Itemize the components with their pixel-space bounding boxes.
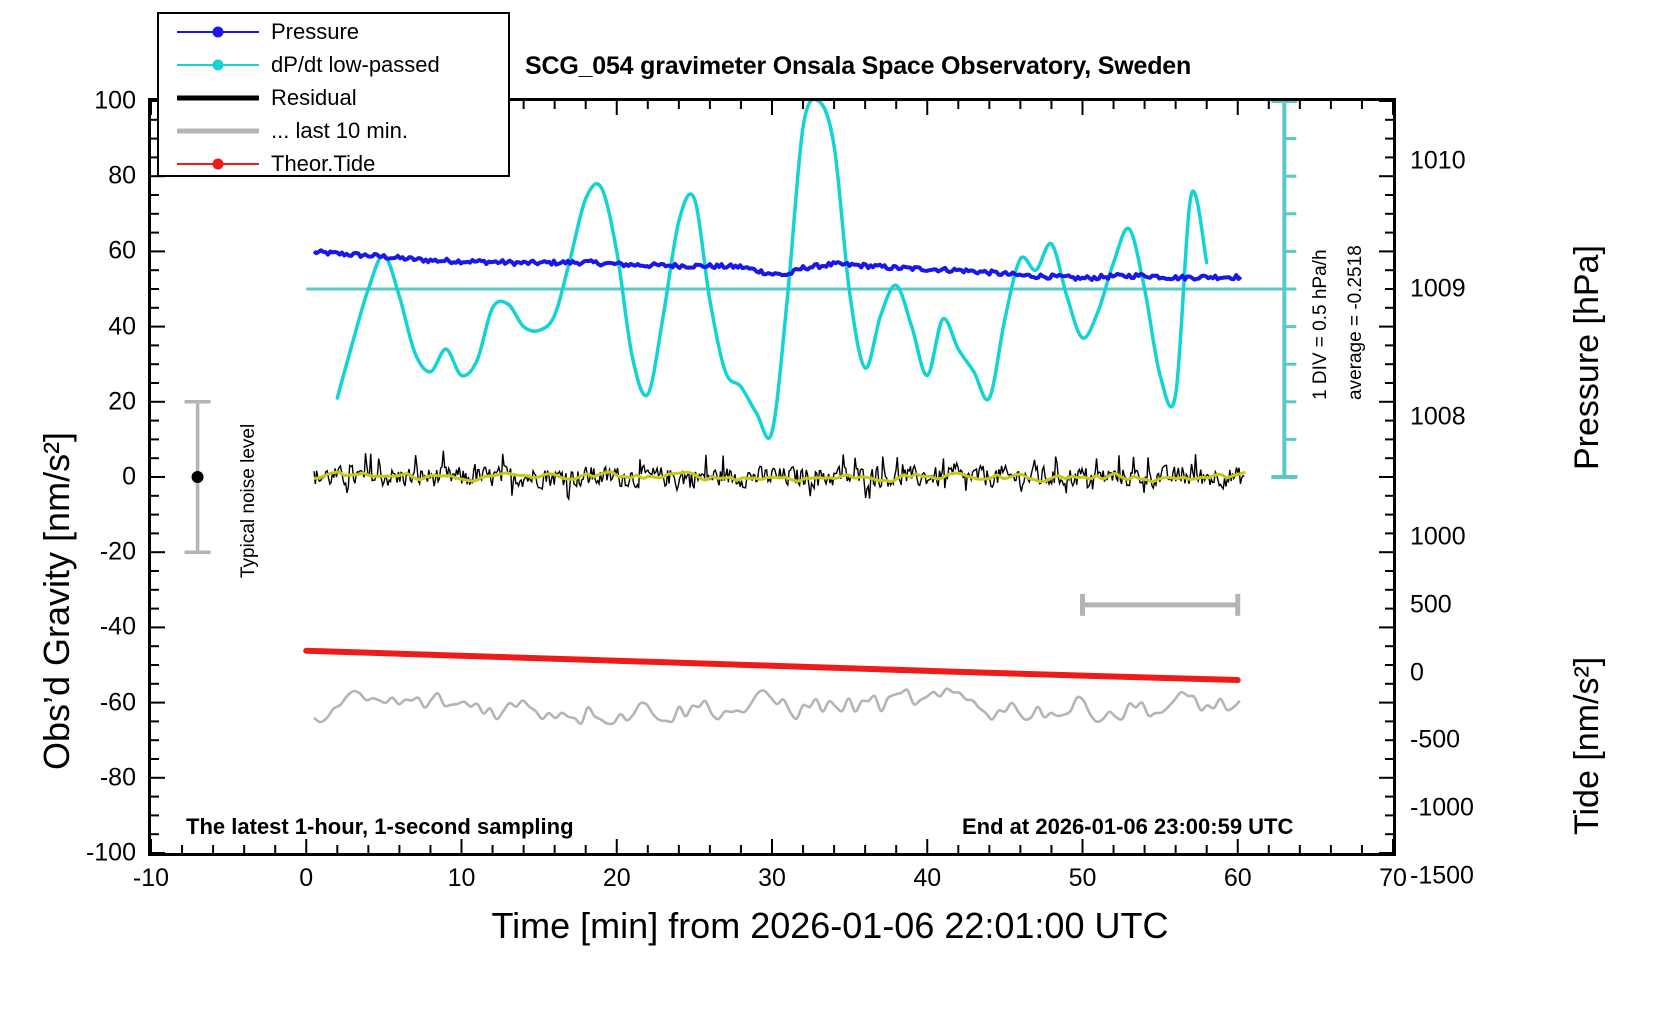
x-tick-label: 50	[1069, 864, 1097, 893]
noise-level-label: Typical noise level	[238, 424, 260, 578]
pressure-tick-label: 1009	[1410, 275, 1466, 304]
tide-tick-label: 0	[1410, 658, 1424, 687]
chart-legend: Pressure dP/dt low-passed Residual ... l…	[157, 12, 510, 177]
pressure-tick-label: 1010	[1410, 147, 1466, 176]
legend-swatch-residual	[177, 82, 259, 113]
plot-canvas	[151, 101, 1393, 853]
chart-title: SCG_054 gravimeter Onsala Space Observat…	[525, 52, 1191, 81]
plot-area	[148, 98, 1396, 856]
tide-tick-label: -500	[1410, 726, 1460, 755]
tide-tick-label: -1000	[1410, 793, 1474, 822]
legend-label-dpdt: dP/dt low-passed	[271, 52, 440, 78]
x-tick-label: 0	[299, 864, 313, 893]
legend-item-last10: ... last 10 min.	[159, 115, 508, 146]
x-tick-label: 20	[603, 864, 631, 893]
pressure-tick-label: 1008	[1410, 402, 1466, 431]
div-scale-label: 1 DIV = 0.5 hPa/h	[1310, 249, 1332, 400]
average-label: average = -0.2518	[1345, 245, 1367, 400]
footer-left-note: The latest 1-hour, 1-second sampling	[186, 814, 574, 840]
legend-item-pressure: Pressure	[159, 16, 508, 47]
legend-label-residual: Residual	[271, 85, 357, 111]
x-tick-label: 30	[758, 864, 786, 893]
y-tick-label: 100	[0, 87, 136, 116]
last10min-line	[314, 689, 1240, 724]
legend-swatch-dpdt	[177, 49, 259, 80]
legend-label-pressure: Pressure	[271, 19, 359, 45]
tide-tick-label: -1500	[1410, 861, 1474, 890]
legend-label-last10: ... last 10 min.	[271, 118, 408, 144]
legend-swatch-pressure	[177, 16, 259, 47]
y-tick-label: 80	[0, 162, 136, 191]
residual-line	[314, 451, 1244, 499]
tide-axis-title: Tide [nm/s²]	[1568, 657, 1607, 835]
x-tick-label: 10	[448, 864, 476, 893]
x-axis-title: Time [min] from 2026-01-06 22:01:00 UTC	[0, 905, 1660, 947]
legend-label-tide: Theor.Tide	[271, 151, 375, 177]
pressure-axis-title: Pressure [hPa]	[1568, 245, 1607, 470]
x-tick-label: 40	[913, 864, 941, 893]
pressure-line	[314, 250, 1241, 280]
legend-item-dpdt: dP/dt low-passed	[159, 49, 508, 80]
y-tick-label: -100	[0, 839, 136, 868]
y-tick-label: 60	[0, 237, 136, 266]
chart-page: SCG_054 gravimeter Onsala Space Observat…	[0, 0, 1660, 1020]
legend-item-residual: Residual	[159, 82, 508, 113]
noise-center-dot	[192, 471, 204, 483]
y-tick-label: 20	[0, 387, 136, 416]
y-tick-label: 40	[0, 312, 136, 341]
legend-item-tide: Theor.Tide	[159, 148, 508, 179]
legend-swatch-last10	[177, 115, 259, 146]
tide-tick-label: 1000	[1410, 523, 1466, 552]
x-tick-label: 60	[1224, 864, 1252, 893]
y-axis-title: Obs’d Gravity [nm/s²]	[36, 432, 78, 770]
x-tick-label: 70	[1379, 864, 1407, 893]
tide-tick-label: 500	[1410, 590, 1452, 619]
legend-swatch-tide	[177, 148, 259, 179]
x-tick-label: -10	[133, 864, 169, 893]
footer-right-note: End at 2026-01-06 23:00:59 UTC	[962, 814, 1293, 840]
theoretical-tide-line	[306, 651, 1238, 680]
